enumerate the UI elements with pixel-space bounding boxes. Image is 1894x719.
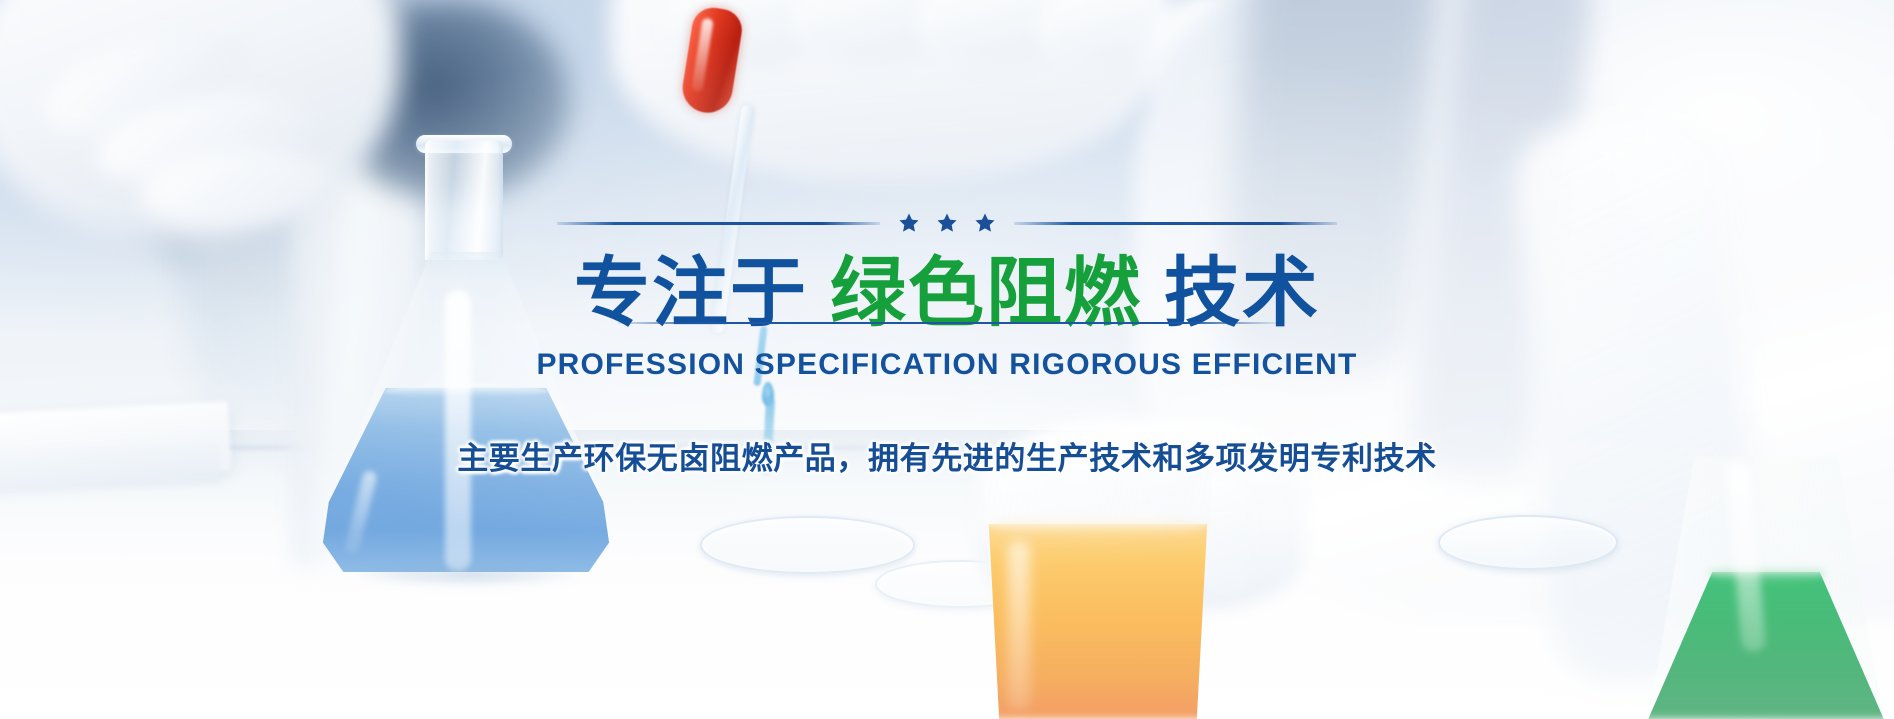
orange-beaker-highlight [1008, 540, 1030, 710]
flask-base-shadow [304, 558, 634, 592]
hero-banner: 专注于绿色阻燃技术 PROFESSION SPECIFICATION RIGOR… [0, 0, 1894, 719]
headline-underline [618, 322, 1276, 324]
petri-dish-2 [1438, 515, 1618, 570]
green-flask-liquid-surface [1708, 564, 1826, 582]
orange-beaker-liquid-surface [990, 516, 1206, 536]
petri-dish-1 [700, 516, 915, 574]
green-flask [1638, 456, 1894, 719]
page-title: 专注于绿色阻燃技术 [574, 196, 1320, 341]
banner-description: 主要生产环保无卤阻燃产品，拥有先进的生产技术和多项发明专利技术 [457, 433, 1437, 478]
orange-beaker-liquid [968, 524, 1228, 719]
orange-beaker [968, 470, 1228, 719]
banner-subtitle: PROFESSION SPECIFICATION RIGOROUS EFFICI… [536, 348, 1357, 382]
flask-neck [425, 140, 503, 260]
flask-highlight [445, 290, 471, 572]
